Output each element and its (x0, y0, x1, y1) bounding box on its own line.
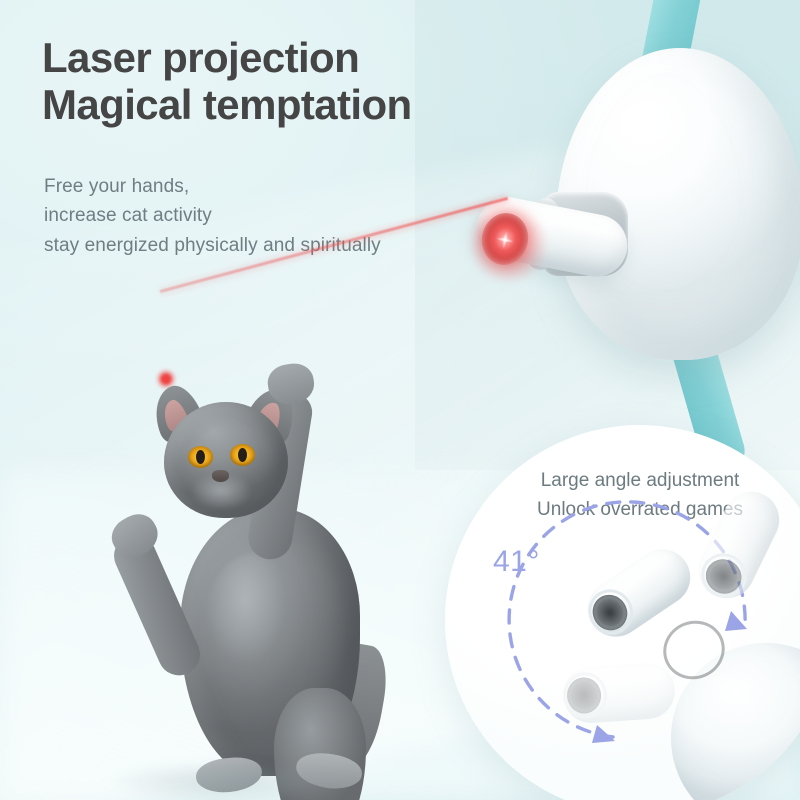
angle-adjustment-inset: Large angle adjustment Unlock overrated … (445, 425, 800, 800)
lens-sparkle-icon (494, 229, 515, 250)
angle-value-label: 41° (493, 545, 540, 579)
grey-cat (78, 358, 388, 800)
subheadline-line-1: Free your hands, (44, 172, 544, 201)
arc-arrowhead-lower (592, 725, 615, 743)
emitter-ghost-low (561, 661, 677, 725)
cat-ground-shadow (104, 760, 334, 800)
cat-pupil-right (238, 448, 247, 462)
laser-projector-device (470, 0, 800, 440)
cat-nose (212, 470, 229, 482)
product-banner: Laser projection Magical temptation Free… (0, 0, 800, 800)
cat-pupil-left (196, 450, 205, 464)
